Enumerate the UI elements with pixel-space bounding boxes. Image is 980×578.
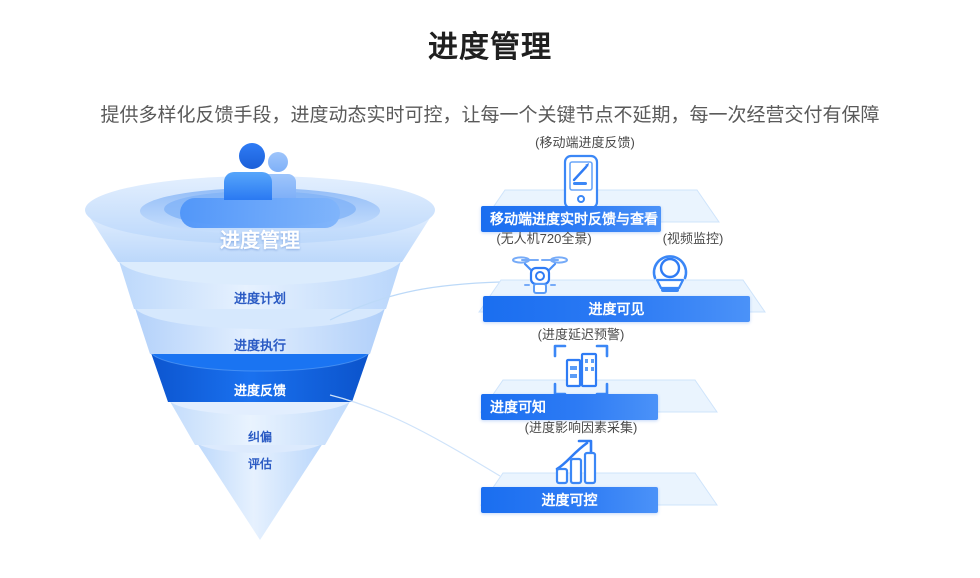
panel-4-bar[interactable]: 进度可控 <box>481 487 658 513</box>
building-scan-alert-icon <box>551 342 611 398</box>
panel-2-bar[interactable]: 进度可见 <box>483 296 750 322</box>
surveillance-camera-icon <box>643 248 697 302</box>
page-title: 进度管理 <box>0 22 980 66</box>
bar-chart-growth-icon <box>553 435 611 491</box>
panel-4-caption-1: (进度影响因素采集) <box>455 417 707 436</box>
page-subtitle: 提供多样化反馈手段，进度动态实时可控，让每一个关键节点不延期，每一次经营交付有保… <box>0 100 980 127</box>
panel-2-caption-2: (视频监控) <box>603 228 783 247</box>
panel-1-caption-1: (移动端进度反馈) <box>455 132 715 151</box>
capability-panels: (移动端进度反馈) 移动端进度实时反馈与查看 (无人机720全景) (视频监控) <box>455 132 975 542</box>
panel-3-caption-1: (进度延迟预警) <box>455 324 707 343</box>
mobile-phone-feedback-icon <box>553 154 609 212</box>
progress-management-infographic: 进度管理 提供多样化反馈手段，进度动态实时可控，让每一个关键节点不延期，每一次经… <box>0 0 980 578</box>
drone-icon <box>509 252 571 302</box>
users-group-icon <box>224 143 296 200</box>
